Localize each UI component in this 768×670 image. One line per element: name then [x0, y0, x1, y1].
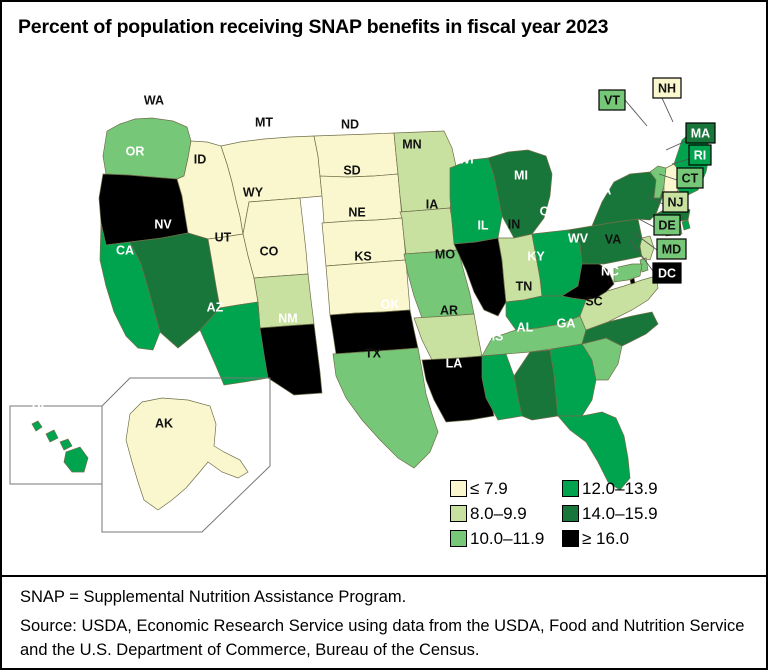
- callout-label-vt: VT: [604, 93, 620, 107]
- state-label-wy: WY: [243, 185, 264, 199]
- state-ri[interactable]: [682, 220, 690, 230]
- callout-ct[interactable]: CT: [677, 168, 703, 188]
- state-label-mo: MO: [435, 247, 455, 261]
- state-label-ut: UT: [215, 230, 232, 244]
- state-label-fl: FL: [595, 386, 611, 400]
- state-wa[interactable]: [103, 118, 191, 179]
- state-label-nc: NC: [601, 264, 619, 278]
- legend-swatch-icon: [562, 530, 579, 547]
- state-or[interactable]: [99, 174, 188, 245]
- legend-item-1-2[interactable]: ≥ 16.0: [562, 526, 658, 551]
- legend-label: ≥ 16.0: [582, 529, 629, 549]
- callout-ma[interactable]: MA: [686, 123, 715, 143]
- legend-swatch-icon: [562, 505, 579, 522]
- state-label-ky: KY: [527, 249, 545, 263]
- legend-swatch-icon: [562, 480, 579, 497]
- legend-label: ≤ 7.9: [470, 479, 508, 499]
- state-label-ia: IA: [426, 197, 439, 211]
- state-label-in: IN: [508, 217, 521, 231]
- state-label-mi: MI: [514, 168, 528, 182]
- state-label-ga: GA: [557, 316, 576, 330]
- state-wy[interactable]: [243, 198, 308, 278]
- state-label-tx: TX: [365, 346, 382, 360]
- state-tx[interactable]: [333, 348, 438, 468]
- callout-de[interactable]: DE: [654, 215, 680, 235]
- callout-dc[interactable]: DC: [653, 263, 681, 283]
- state-label-id: ID: [194, 152, 207, 166]
- state-label-sd: SD: [343, 163, 360, 177]
- state-label-ak: AK: [155, 416, 173, 430]
- callout-label-dc: DC: [658, 266, 676, 280]
- state-label-hi: HI: [32, 397, 45, 411]
- state-label-nv: NV: [154, 217, 172, 231]
- state-label-or: OR: [126, 144, 145, 158]
- state-hi[interactable]: [32, 421, 88, 472]
- callout-label-ma: MA: [691, 126, 710, 140]
- state-label-az: AZ: [207, 300, 224, 314]
- source-note: Source: USDA, Economic Research Service …: [20, 609, 752, 662]
- state-label-pa: PA: [595, 183, 611, 197]
- state-label-oh: OH: [540, 204, 559, 218]
- callout-vt[interactable]: VT: [599, 90, 625, 110]
- callout-label-md: MD: [662, 242, 681, 256]
- state-label-nm: NM: [278, 311, 297, 325]
- leader-line-vt: [625, 100, 647, 126]
- abbreviation-note: SNAP = Supplemental Nutrition Assistance…: [20, 577, 752, 609]
- leader-line-de: [639, 219, 654, 227]
- legend-item-0-2[interactable]: 10.0–11.9: [450, 526, 562, 551]
- state-label-ar: AR: [440, 303, 458, 317]
- state-label-mt: MT: [255, 115, 273, 129]
- legend-swatch-icon: [450, 530, 467, 547]
- state-shapes-group: [32, 118, 710, 510]
- state-ak[interactable]: [126, 398, 248, 510]
- callout-label-nj: NJ: [668, 195, 684, 209]
- state-label-mn: MN: [402, 137, 421, 151]
- legend-column-2: 12.0–13.914.0–15.9≥ 16.0: [562, 476, 658, 551]
- legend: ≤ 7.98.0–9.910.0–11.912.0–13.914.0–15.9≥…: [450, 476, 700, 551]
- legend-item-0-1[interactable]: 8.0–9.9: [450, 501, 562, 526]
- legend-swatch-icon: [450, 480, 467, 497]
- state-label-tn: TN: [516, 279, 533, 293]
- legend-label: 14.0–15.9: [582, 504, 658, 524]
- snap-map-figure: Percent of population receiving SNAP ben…: [0, 0, 768, 670]
- legend-item-0-0[interactable]: ≤ 7.9: [450, 476, 562, 501]
- state-label-al: AL: [517, 320, 534, 334]
- callout-label-ct: CT: [682, 171, 699, 185]
- state-label-va: VA: [605, 232, 621, 246]
- state-label-ok: OK: [381, 297, 400, 311]
- state-label-ne: NE: [348, 205, 365, 219]
- state-label-ks: KS: [354, 249, 371, 263]
- state-label-sc: SC: [585, 294, 602, 308]
- legend-item-1-0[interactable]: 12.0–13.9: [562, 476, 658, 501]
- state-label-wv: WV: [568, 231, 589, 245]
- hawaii-inset-frame: [10, 406, 102, 484]
- state-label-il: IL: [477, 218, 488, 232]
- page-title: Percent of population receiving SNAP ben…: [18, 16, 738, 39]
- state-label-wa: WA: [144, 93, 164, 107]
- legend-label: 12.0–13.9: [582, 479, 658, 499]
- legend-label: 8.0–9.9: [470, 504, 527, 524]
- legend-swatch-icon: [450, 505, 467, 522]
- callout-label-nh: NH: [658, 81, 676, 95]
- legend-column-1: ≤ 7.98.0–9.910.0–11.9: [450, 476, 562, 551]
- state-label-wi: WI: [458, 152, 473, 166]
- state-label-ny: NY: [616, 147, 634, 161]
- state-nm[interactable]: [260, 324, 322, 395]
- callout-label-de: DE: [658, 218, 675, 232]
- state-label-nd: ND: [341, 117, 359, 131]
- state-label-ms: MS: [485, 329, 504, 343]
- callout-nh[interactable]: NH: [653, 78, 681, 98]
- state-label-co: CO: [260, 244, 279, 258]
- state-label-ca: CA: [116, 243, 134, 257]
- callout-nj[interactable]: NJ: [663, 192, 688, 212]
- callout-ri[interactable]: RI: [689, 145, 711, 165]
- legend-label: 10.0–11.9: [470, 529, 544, 549]
- callout-label-ri: RI: [694, 148, 707, 162]
- legend-item-1-1[interactable]: 14.0–15.9: [562, 501, 658, 526]
- figure-notes: SNAP = Supplemental Nutrition Assistance…: [2, 575, 768, 662]
- state-label-la: LA: [446, 356, 463, 370]
- state-ar[interactable]: [414, 314, 482, 360]
- callout-md[interactable]: MD: [657, 239, 686, 259]
